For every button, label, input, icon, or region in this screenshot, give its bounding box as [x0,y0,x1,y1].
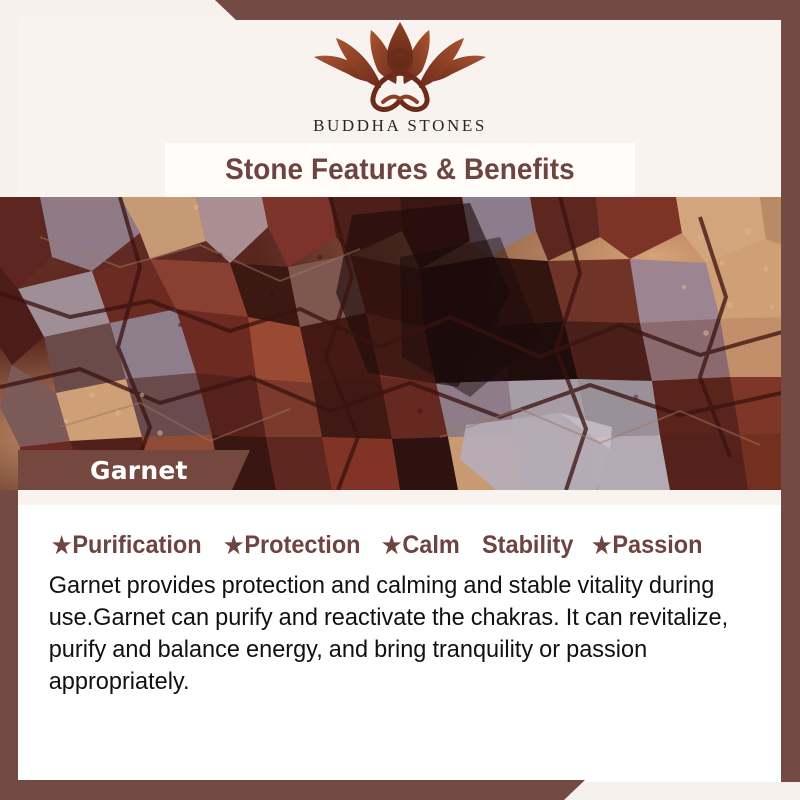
title-plaque: Stone Features & Benefits [165,143,635,197]
garnet-photo [0,197,800,490]
stone-description: Garnet provides protection and calming a… [18,570,751,697]
garnet-crystal-cluster-illustration [0,197,800,490]
benefit-passion: ★ Passion [592,531,702,560]
star-icon: ★ [52,534,71,557]
frame-bottom [0,780,800,800]
content-panel: ★ Purification ★ Protection ★ Calm Stabi… [18,505,782,782]
star-icon: ★ [592,534,611,557]
stone-name-tag: Garnet [18,450,250,490]
page-title: Stone Features & Benefits [225,153,575,187]
benefit-label: Passion [613,531,703,560]
brand-name: BUDDHA STONES [0,116,800,136]
star-icon: ★ [382,534,401,557]
benefit-calm: ★ Calm [382,531,460,560]
benefit-protection: ★ Protection [224,531,361,560]
benefit-purification: ★ Purification [52,531,202,560]
benefit-label: Calm [403,531,460,560]
frame-left-edge [0,490,18,800]
stone-name: Garnet [90,456,188,485]
brand-logo: BUDDHA STONES [0,16,800,136]
star-icon: ★ [224,534,243,557]
benefit-label: Protection [244,531,360,560]
lotus-meditation-icon [305,16,495,114]
benefit-label: Purification [72,531,201,560]
benefit-stability: Stability [482,531,573,560]
frame-right-edge [781,0,800,782]
benefits-row: ★ Purification ★ Protection ★ Calm Stabi… [18,531,782,560]
benefit-label: Stability [482,531,573,560]
stone-info-poster: BUDDHA STONES Stone Features & Benefits [0,0,800,800]
